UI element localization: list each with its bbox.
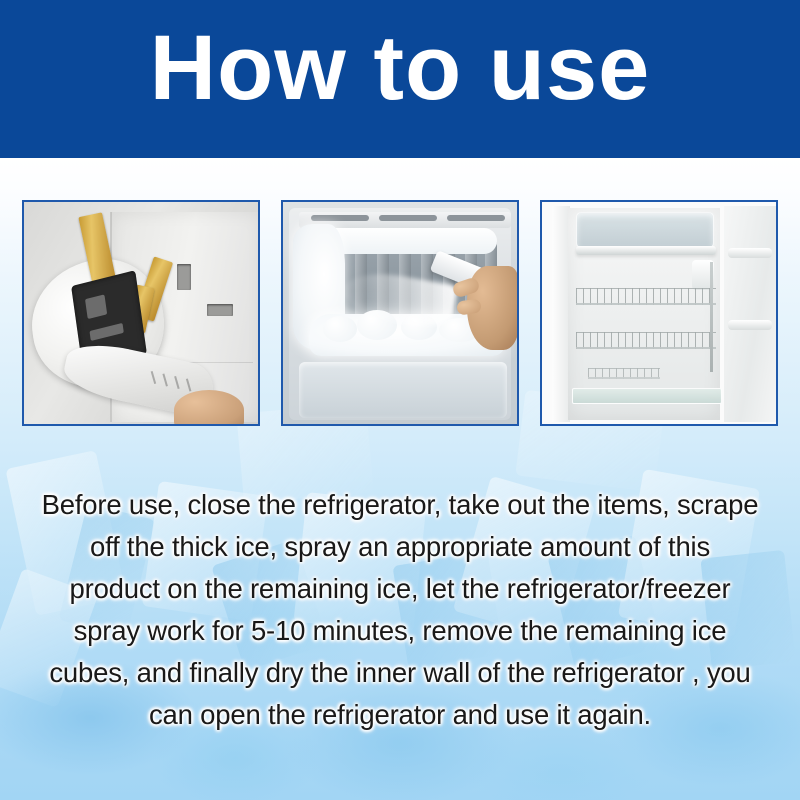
fridge-wire-shelf-2 bbox=[576, 332, 716, 349]
instruction-line: Before use, close the refrigerator, take… bbox=[34, 484, 766, 526]
freezer-drawer bbox=[299, 362, 507, 418]
instruction-line: cubes, and finally dry the inner wall of… bbox=[34, 652, 766, 694]
instruction-line: off the thick ice, spray an appropriate … bbox=[34, 526, 766, 568]
photo-spraying-frosted-freezer bbox=[281, 200, 519, 426]
hand-holding-spray bbox=[467, 266, 519, 350]
fridge-wire-shelf-3 bbox=[588, 368, 660, 379]
header-banner: How to use bbox=[0, 0, 800, 158]
photo-plug-unplugged-from-socket bbox=[22, 200, 260, 426]
photo-clean-empty-refrigerator bbox=[540, 200, 778, 426]
hand-thumb bbox=[174, 390, 244, 426]
instruction-line: can open the refrigerator and use it aga… bbox=[34, 694, 766, 736]
fridge-shelf-top bbox=[576, 246, 716, 255]
fridge-glass-shelf bbox=[572, 388, 722, 404]
fridge-door bbox=[724, 206, 776, 422]
instruction-line: spray work for 5-10 minutes, remove the … bbox=[34, 610, 766, 652]
instructions-paragraph: Before use, close the refrigerator, take… bbox=[34, 484, 766, 736]
photo-row bbox=[22, 200, 778, 426]
instruction-line: product on the remaining ice, let the re… bbox=[34, 568, 766, 610]
fridge-wire-shelf-1 bbox=[576, 288, 716, 305]
fridge-crisper-box bbox=[576, 212, 714, 248]
how-to-use-infographic: How to use bbox=[0, 0, 800, 800]
page-title: How to use bbox=[0, 16, 800, 120]
